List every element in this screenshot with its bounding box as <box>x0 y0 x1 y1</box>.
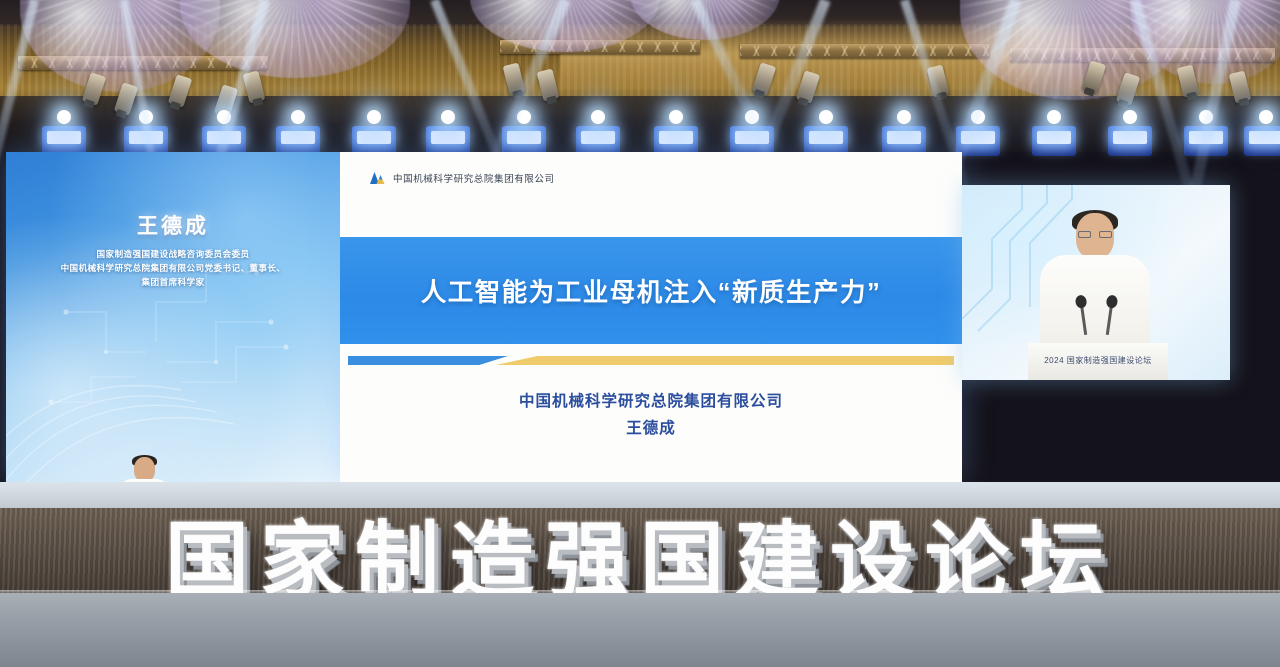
slide-main-title: 人工智能为工业母机注入“新质生产力” <box>340 237 962 344</box>
slide-subtitle-org: 中国机械科学研究总院集团有限公司 <box>340 388 962 415</box>
slide-logo-text: 中国机械科学研究总院集团有限公司 <box>393 171 555 185</box>
beam-fixture-icon <box>1240 112 1280 158</box>
speaker-titles: 国家制造强国建设战略咨询委员会委员 中国机械科学研究总院集团有限公司党委书记、董… <box>6 247 340 290</box>
speaker-title-line-2: 中国机械科学研究总院集团有限公司党委书记、董事长、 <box>6 261 340 275</box>
speaker-title-line-3: 集团首席科学家 <box>6 275 340 289</box>
divider-blue-segment <box>348 356 508 365</box>
slide-subtitle-block: 中国机械科学研究总院集团有限公司 王德成 <box>340 388 962 442</box>
wave-graphic-icon <box>6 262 296 482</box>
slide-divider <box>348 356 954 365</box>
main-presentation-slide: 中国机械科学研究总院集团有限公司 人工智能为工业母机注入“新质生产力” 中国机械… <box>340 152 962 482</box>
stage-scene: 王德成 国家制造强国建设战略咨询委员会委员 中国机械科学研究总院集团有限公司党委… <box>0 0 1280 667</box>
beam-fixture-icon <box>1104 112 1156 158</box>
slide-title-band: 人工智能为工业母机注入“新质生产力” <box>340 237 962 344</box>
speaker-bio-block: 王德成 国家制造强国建设战略咨询委员会委员 中国机械科学研究总院集团有限公司党委… <box>6 210 340 290</box>
right-live-feed-screen: 2024 国家制造强国建设论坛 <box>962 185 1230 380</box>
mountain-triangle-logo-icon <box>370 170 387 185</box>
crystal-chandelier-icon <box>180 0 410 78</box>
live-feed-podium: 2024 国家制造强国建设论坛 <box>1028 343 1168 380</box>
lighting-truss-right <box>740 44 990 58</box>
speaker-title-line-1: 国家制造强国建设战略咨询委员会委员 <box>6 247 340 261</box>
stage-apron <box>0 593 1280 667</box>
left-projection-screen: 王德成 国家制造强国建设战略咨询委员会委员 中国机械科学研究总院集团有限公司党委… <box>6 152 340 482</box>
crystal-chandelier-icon <box>630 0 780 40</box>
beam-fixture-icon <box>1028 112 1080 158</box>
live-feed-body <box>1040 255 1150 355</box>
live-feed-overlay-text: 2024 国家制造强国建设论坛 <box>1028 355 1168 366</box>
divider-gold-segment <box>496 356 954 365</box>
crystal-chandelier-icon <box>1130 0 1280 84</box>
slide-logo: 中国机械科学研究总院集团有限公司 <box>370 170 555 185</box>
speaker-name: 王德成 <box>6 210 340 240</box>
live-feed-speaker-figure <box>1040 213 1150 353</box>
speaker-figure <box>118 457 170 482</box>
beam-fixture-icon <box>1180 112 1232 158</box>
slide-subtitle-name: 王德成 <box>340 415 962 442</box>
glasses-icon <box>1078 231 1112 238</box>
